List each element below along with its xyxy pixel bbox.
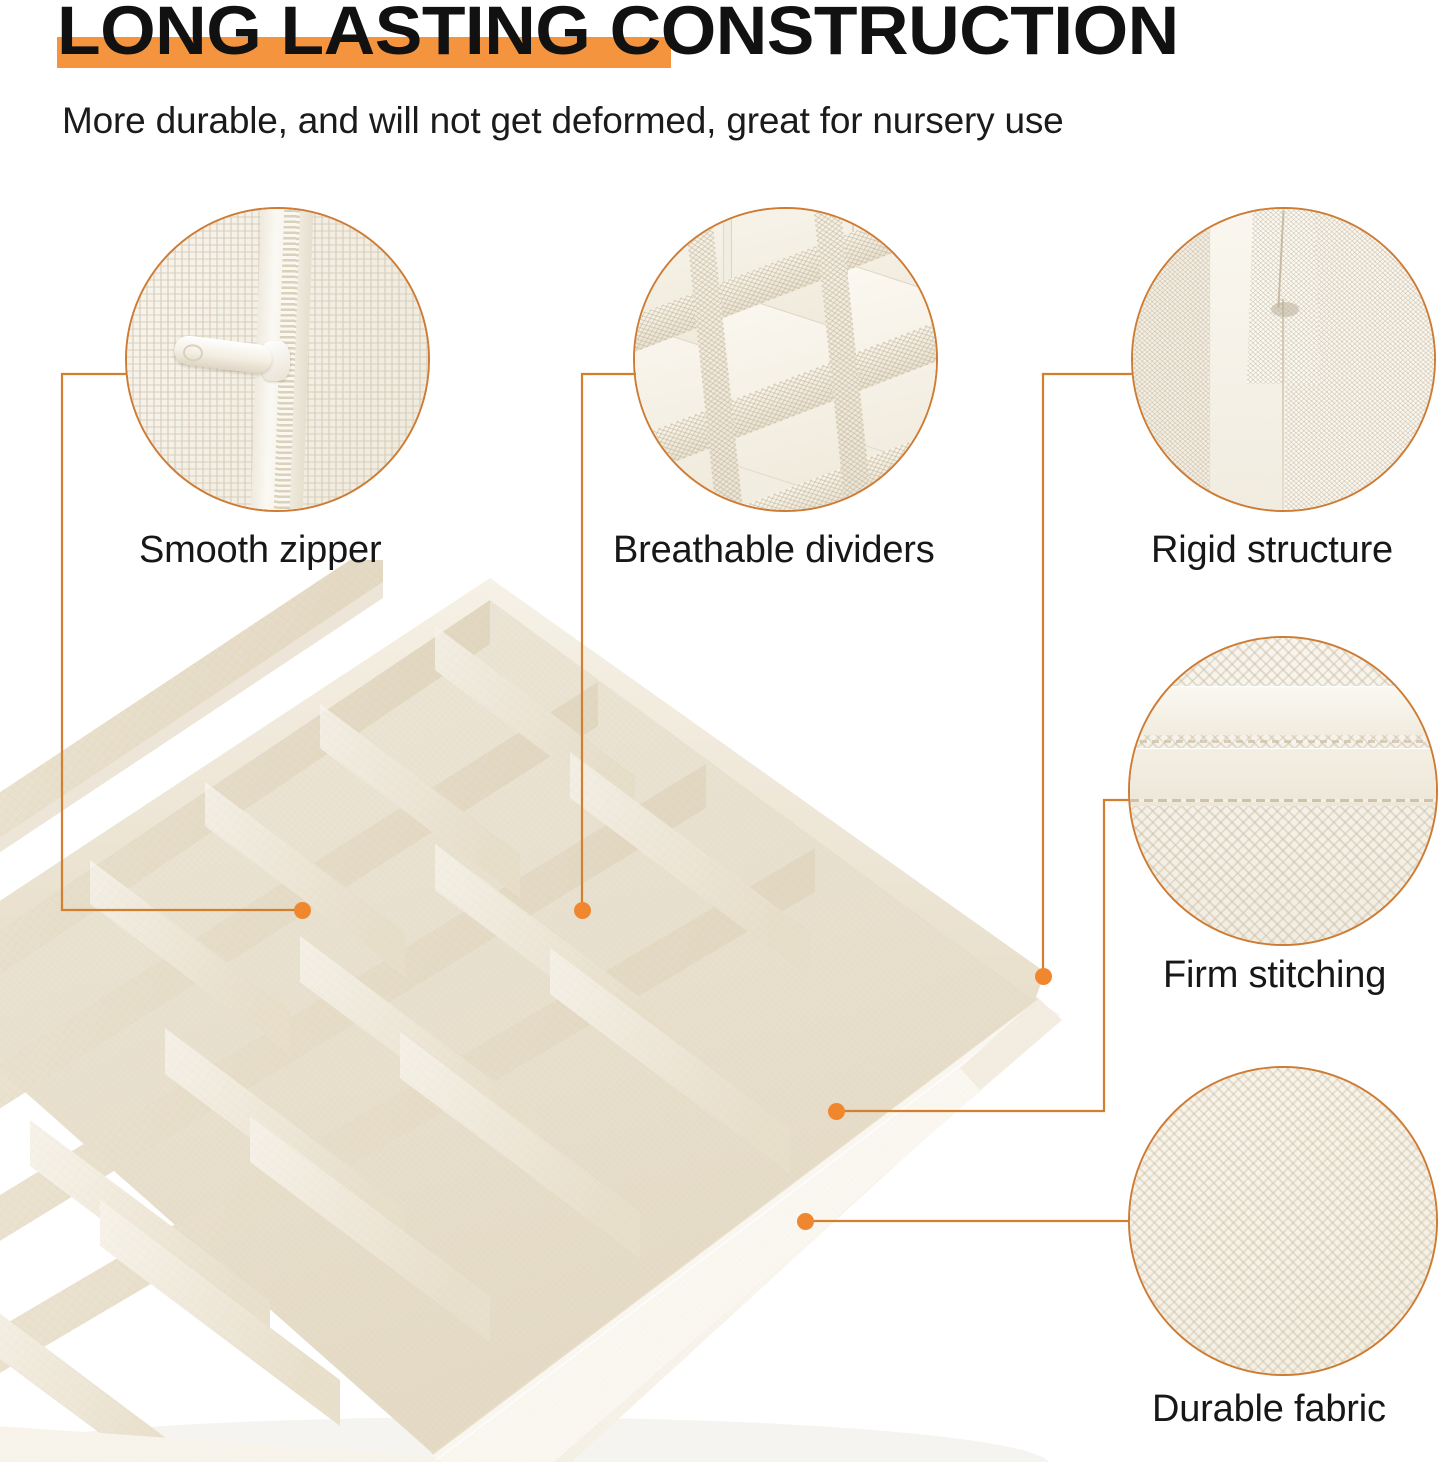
fabric-texture-detail-photo	[1128, 1066, 1438, 1376]
infographic-page: LONG LASTING CONSTRUCTION More durable, …	[0, 0, 1445, 1462]
corner-structure-detail-photo	[1131, 207, 1436, 512]
stitching-detail-photo	[1128, 636, 1438, 946]
leader-dot-durable-fabric	[797, 1213, 814, 1230]
leader-dot-smooth-zipper	[294, 902, 311, 919]
zipper-detail-photo	[125, 207, 430, 512]
page-title: LONG LASTING CONSTRUCTION	[57, 0, 1445, 71]
callout-label-durable-fabric: Durable fabric	[1152, 1386, 1386, 1432]
leader-dot-rigid-structure	[1035, 968, 1052, 985]
product-image-fabric-drawer-organizer	[0, 560, 1090, 1462]
headline-block: LONG LASTING CONSTRUCTION	[0, 0, 1445, 80]
page-subtitle: More durable, and will not get deformed,…	[62, 96, 1064, 146]
callout-label-breathable-dividers: Breathable dividers	[613, 527, 935, 573]
leader-dot-firm-stitching	[828, 1103, 845, 1120]
callout-circle-breathable-dividers	[633, 207, 938, 512]
callout-circle-durable-fabric	[1128, 1066, 1438, 1376]
callout-circle-firm-stitching	[1128, 636, 1438, 946]
callout-circle-rigid-structure	[1131, 207, 1436, 512]
leader-dot-breathable-dividers	[574, 902, 591, 919]
callout-label-firm-stitching: Firm stitching	[1163, 952, 1386, 998]
callout-circle-smooth-zipper	[125, 207, 430, 512]
callout-label-rigid-structure: Rigid structure	[1151, 527, 1393, 573]
mesh-dividers-detail-photo	[633, 207, 938, 512]
callout-label-smooth-zipper: Smooth zipper	[139, 527, 381, 573]
